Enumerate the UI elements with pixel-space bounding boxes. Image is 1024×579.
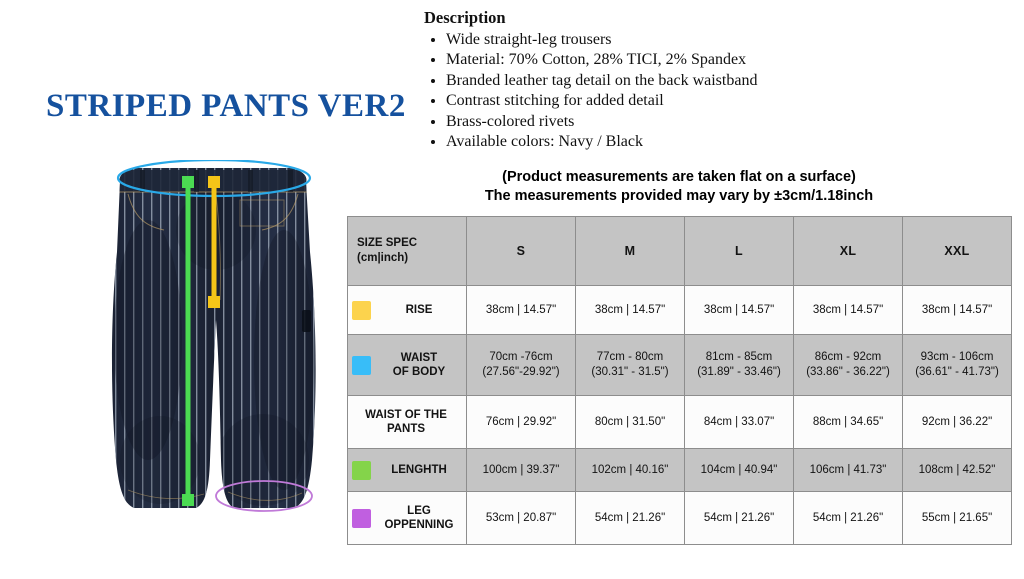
list-item: Branded leather tag detail on the back w… [446,71,894,91]
row-label-text: WAIST OF BODY [378,351,460,380]
cell-leg-opening-xl: 54cm | 21.26" [794,492,903,545]
row-label-line-2: PANTS [387,423,425,435]
measurement-note-line-2: The measurements provided may vary by ±3… [345,187,1013,206]
row-label-text: RISE [378,303,460,318]
cell-waist-pants-m: 80cm | 31.50" [576,396,685,449]
cell-waist-body-m: 77cm - 80cm(30.31" - 31.5") [576,335,685,396]
column-header-m: M [576,217,685,286]
row-label-line-1: WAIST OF THE [365,409,447,421]
list-item: Material: 70% Cotton, 28% TICI, 2% Spand… [446,50,894,70]
cell-length-xxl: 108cm | 42.52" [903,449,1012,492]
row-label-waist-of-pants: WAIST OF THE PANTS [348,396,467,449]
row-label-line-1: WAIST [401,352,437,364]
size-spec-header-line-1: SIZE SPEC [357,236,466,251]
row-label-line-2: OF BODY [393,366,445,378]
product-photo [88,160,338,560]
row-label-text: LEG OPPENNING [378,504,460,533]
list-item: Wide straight-leg trousers [446,30,894,50]
column-header-l: L [685,217,794,286]
pants-illustration [88,160,338,560]
cell-leg-opening-s: 53cm | 20.87" [467,492,576,545]
cell-length-l: 104cm | 40.94" [685,449,794,492]
leg-opening-swatch [352,509,371,528]
row-label-waist-of-body: WAIST OF BODY [348,335,467,396]
measurement-note: (Product measurements are taken flat on … [345,168,1013,206]
table-header: SIZE SPEC (cm|inch) S M L XL XXL [348,217,1012,286]
table-body: RISE 38cm | 14.57" 38cm | 14.57" 38cm | … [348,286,1012,545]
cell-waist-body-l: 81cm - 85cm(31.89" - 33.46") [685,335,794,396]
column-header-xl: XL [794,217,903,286]
size-spec-header-line-2: (cm|inch) [357,251,466,266]
cell-rise-s: 38cm | 14.57" [467,286,576,335]
cell-rise-xxl: 38cm | 14.57" [903,286,1012,335]
cell-waist-body-s: 70cm -76cm(27.56"-29.92") [467,335,576,396]
column-header-s: S [467,217,576,286]
cell-rise-m: 38cm | 14.57" [576,286,685,335]
cell-waist-pants-xl: 88cm | 34.65" [794,396,903,449]
cell-length-m: 102cm | 40.16" [576,449,685,492]
cell-leg-opening-xxl: 55cm | 21.65" [903,492,1012,545]
length-swatch [352,461,371,480]
row-label-line-2: OPPENNING [384,519,453,531]
list-item: Contrast stitching for added detail [446,91,894,111]
cell-waist-body-xl: 86cm - 92cm(33.86" - 36.22") [794,335,903,396]
page-title: STRIPED PANTS VER2 [46,88,406,125]
cell-leg-opening-l: 54cm | 21.26" [685,492,794,545]
cell-rise-xl: 38cm | 14.57" [794,286,903,335]
table-row: LENGHTH 100cm | 39.37" 102cm | 40.16" 10… [348,449,1012,492]
cell-rise-l: 38cm | 14.57" [685,286,794,335]
row-label-text: LENGHTH [378,463,460,478]
column-header-xxl: XXL [903,217,1012,286]
waist-of-body-swatch [352,356,371,375]
cell-waist-pants-l: 84cm | 33.07" [685,396,794,449]
table-row: WAIST OF BODY 70cm -76cm(27.56"-29.92") … [348,335,1012,396]
table-row: RISE 38cm | 14.57" 38cm | 14.57" 38cm | … [348,286,1012,335]
cell-leg-opening-m: 54cm | 21.26" [576,492,685,545]
list-item: Available colors: Navy / Black [446,132,894,152]
description-heading: Description [424,8,894,28]
row-label-text: WAIST OF THE PANTS [352,408,460,437]
row-label-rise: RISE [348,286,467,335]
list-item: Brass-colored rivets [446,112,894,132]
description-list: Wide straight-leg trousers Material: 70%… [424,30,894,152]
size-spec-header: SIZE SPEC (cm|inch) [348,217,467,286]
cell-length-s: 100cm | 39.37" [467,449,576,492]
rise-swatch [352,301,371,320]
row-label-line-1: LEG [407,505,431,517]
cell-waist-pants-s: 76cm | 29.92" [467,396,576,449]
cell-length-xl: 106cm | 41.73" [794,449,903,492]
cell-waist-body-xxl: 93cm - 106cm(36.61" - 41.73") [903,335,1012,396]
row-label-leg-opening: LEG OPPENNING [348,492,467,545]
size-spec-table: SIZE SPEC (cm|inch) S M L XL XXL RISE [347,216,1012,545]
table-header-row: SIZE SPEC (cm|inch) S M L XL XXL [348,217,1012,286]
description-block: Description Wide straight-leg trousers M… [424,8,894,152]
table-row: WAIST OF THE PANTS 76cm | 29.92" 80cm | … [348,396,1012,449]
measurement-note-line-1: (Product measurements are taken flat on … [345,168,1013,187]
table-row: LEG OPPENNING 53cm | 20.87" 54cm | 21.26… [348,492,1012,545]
row-label-length: LENGHTH [348,449,467,492]
size-chart-page: STRIPED PANTS VER2 Description Wide stra… [0,0,1024,579]
cell-waist-pants-xxl: 92cm | 36.22" [903,396,1012,449]
